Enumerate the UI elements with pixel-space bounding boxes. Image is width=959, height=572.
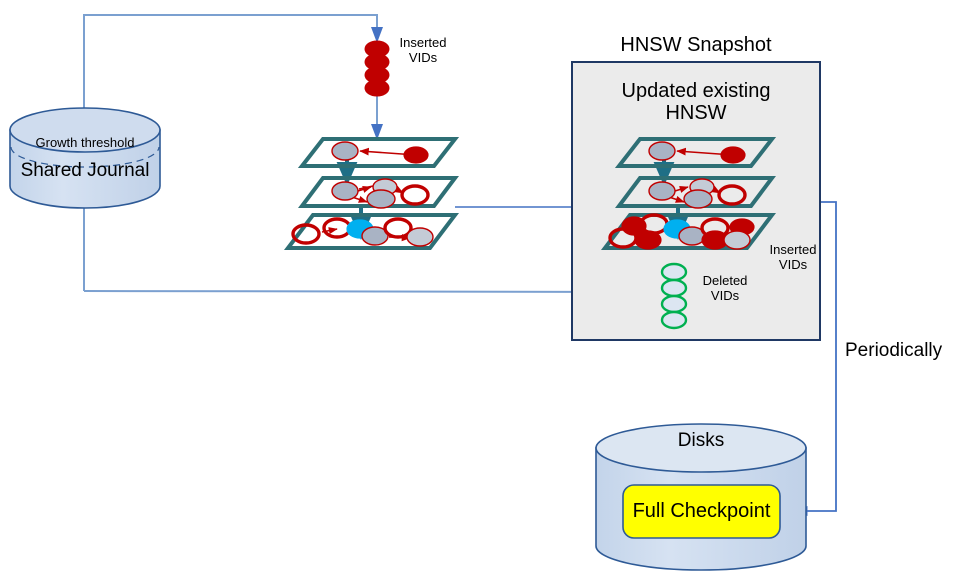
node-gray xyxy=(649,182,675,200)
vid-ellipse xyxy=(662,280,686,296)
inserted-vids-stack xyxy=(365,41,389,96)
deleted-vids-label: Deleted VIDs xyxy=(694,274,756,303)
node-gray xyxy=(407,228,433,246)
vid-ellipse xyxy=(662,264,686,280)
diagram-svg xyxy=(0,0,959,572)
node-red-filled xyxy=(635,231,661,249)
vid-ellipse xyxy=(365,80,389,96)
node-gray xyxy=(649,142,675,160)
diagram-canvas: Growth threshold Shared Journal Inserted… xyxy=(0,0,959,572)
node-gray xyxy=(367,190,395,208)
node-gray xyxy=(724,231,750,249)
disks-label: Disks xyxy=(641,430,761,451)
inserted-vids-top-label: Inserted VIDs xyxy=(392,36,454,65)
vid-ellipse xyxy=(662,296,686,312)
updated-existing-hnsw-label: Updated existing HNSW xyxy=(600,80,792,125)
full-checkpoint-label: Full Checkpoint xyxy=(623,500,780,522)
hnsw-left-graph[interactable] xyxy=(288,139,455,248)
node-gray xyxy=(332,142,358,160)
growth-threshold-label: Growth threshold xyxy=(20,136,150,151)
node-gray xyxy=(332,182,358,200)
vid-ellipse xyxy=(662,312,686,328)
node-red-filled xyxy=(721,147,745,163)
hnsw-left-layer-bottom xyxy=(288,215,455,248)
periodically-label: Periodically xyxy=(845,340,959,361)
hnsw-left-layer-middle xyxy=(302,178,455,208)
inserted-vids-right-label: Inserted VIDs xyxy=(762,243,824,272)
node-red-open xyxy=(402,186,428,204)
node-red-filled xyxy=(404,147,428,163)
node-gray xyxy=(684,190,712,208)
connector-journal-to-deleted-vids xyxy=(84,291,655,292)
shared-journal-cylinder[interactable] xyxy=(10,108,160,208)
hnsw-left-layer-top xyxy=(302,139,455,166)
shared-journal-label: Shared Journal xyxy=(12,160,158,181)
hnsw-snapshot-title: HNSW Snapshot xyxy=(600,34,792,56)
node-red-open xyxy=(324,219,350,237)
